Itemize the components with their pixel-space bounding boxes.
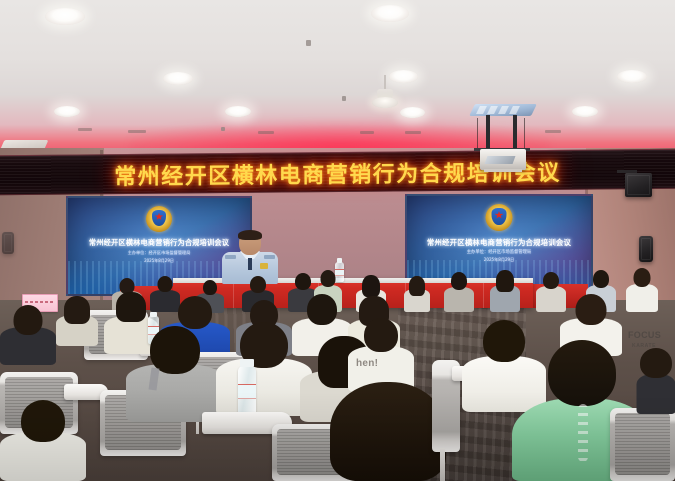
person-head: [321, 270, 336, 287]
projector-drop-rod: [486, 115, 490, 149]
presenter-hair: [238, 230, 262, 240]
left-screen-title: 常州经开区横林电商营销行为合规培训会议: [75, 238, 242, 248]
led-banner: 常州经开区横林电商营销行为合规培训会议: [0, 149, 675, 195]
person-hair: [116, 292, 146, 322]
person-head: [307, 294, 337, 325]
person-head: [543, 272, 559, 289]
person-head: [634, 268, 651, 287]
downlight: [54, 106, 80, 117]
police-badge-icon: [486, 204, 513, 231]
right-screen-subtitle-2: 2025年8月29日: [418, 257, 580, 263]
projector-drop-rod: [513, 115, 517, 149]
smoke-detector-icon: [221, 127, 225, 131]
person-hair: [409, 276, 425, 296]
presenter-epaulette: [225, 255, 236, 259]
downlight: [572, 106, 598, 117]
projector-wire: [477, 118, 478, 148]
person-head: [158, 276, 173, 292]
wall-speaker: [639, 236, 653, 262]
wall-speaker: [625, 173, 652, 197]
person-hair: [64, 296, 90, 324]
audience-person: [0, 305, 56, 365]
smoke-detector-icon: [342, 96, 346, 101]
ceiling-projector: [480, 149, 526, 170]
wall-speaker: [2, 232, 14, 254]
presenter-badge-icon: [260, 263, 268, 269]
person-head: [364, 318, 398, 352]
pendant-light: [372, 75, 398, 109]
smoke-detector-icon: [306, 40, 311, 46]
person-head: [576, 294, 607, 325]
ceiling-vent: [258, 131, 274, 134]
presenter-tie: [248, 258, 252, 270]
left-screen-subtitle-1: 主办单位：经开区市场监督管理局: [79, 250, 239, 256]
ceiling-vent: [405, 131, 421, 134]
ceiling-vent: [360, 131, 374, 134]
downlight: [400, 107, 425, 118]
conference-room-photo: 常州经开区横林电商营销行为合规培训会议 常州经开区横林电商营销行为合规培训会议: [0, 0, 675, 481]
table-skirt-fold: [483, 283, 484, 308]
person-torso: [444, 287, 474, 312]
right-screen-subtitle-1: 主办单位：经开区市场监督管理局: [418, 249, 580, 255]
person-head: [178, 296, 212, 329]
table-skirt-fold: [233, 283, 234, 308]
ceiling-vent: [545, 130, 561, 133]
audience-person: [490, 270, 520, 312]
ceiling-vent: [78, 128, 92, 131]
projector-mount-plate: [469, 104, 537, 116]
person-head: [14, 305, 43, 335]
person-hair: [362, 275, 380, 297]
person-head: [203, 280, 217, 295]
pendant-disc: [372, 97, 398, 108]
downlight: [617, 70, 647, 83]
audience-person: [348, 318, 414, 392]
person-head: [640, 348, 672, 378]
person-head: [250, 276, 266, 293]
audience-person: [404, 276, 430, 312]
presenter-epaulette: [264, 255, 275, 259]
foreground-shading: [0, 392, 675, 481]
audience-person: [444, 272, 474, 312]
downlight: [163, 72, 193, 85]
led-banner-text: 常州经开区横林电商营销行为合规培训会议: [0, 154, 675, 192]
projector-wire: [524, 118, 525, 148]
person-head: [593, 270, 609, 288]
audience-person: [56, 296, 98, 346]
downlight: [371, 5, 409, 22]
person-head: [295, 273, 311, 290]
left-screen-subtitle-2: 2025年8月29日: [79, 258, 239, 264]
right-screen-title: 常州经开区横林电商营销行为合规培训会议: [414, 237, 583, 248]
person-head: [451, 272, 467, 290]
person-head: [150, 326, 200, 374]
ceiling-vent: [128, 130, 146, 133]
downlight: [45, 8, 85, 25]
downlight: [225, 106, 251, 117]
person-hair: [496, 270, 514, 292]
ceiling-projector-rig: [466, 104, 538, 176]
projector-base-rail: [484, 169, 522, 172]
shirt-text-hen: hen!: [356, 358, 378, 369]
police-badge-icon: [146, 206, 172, 232]
